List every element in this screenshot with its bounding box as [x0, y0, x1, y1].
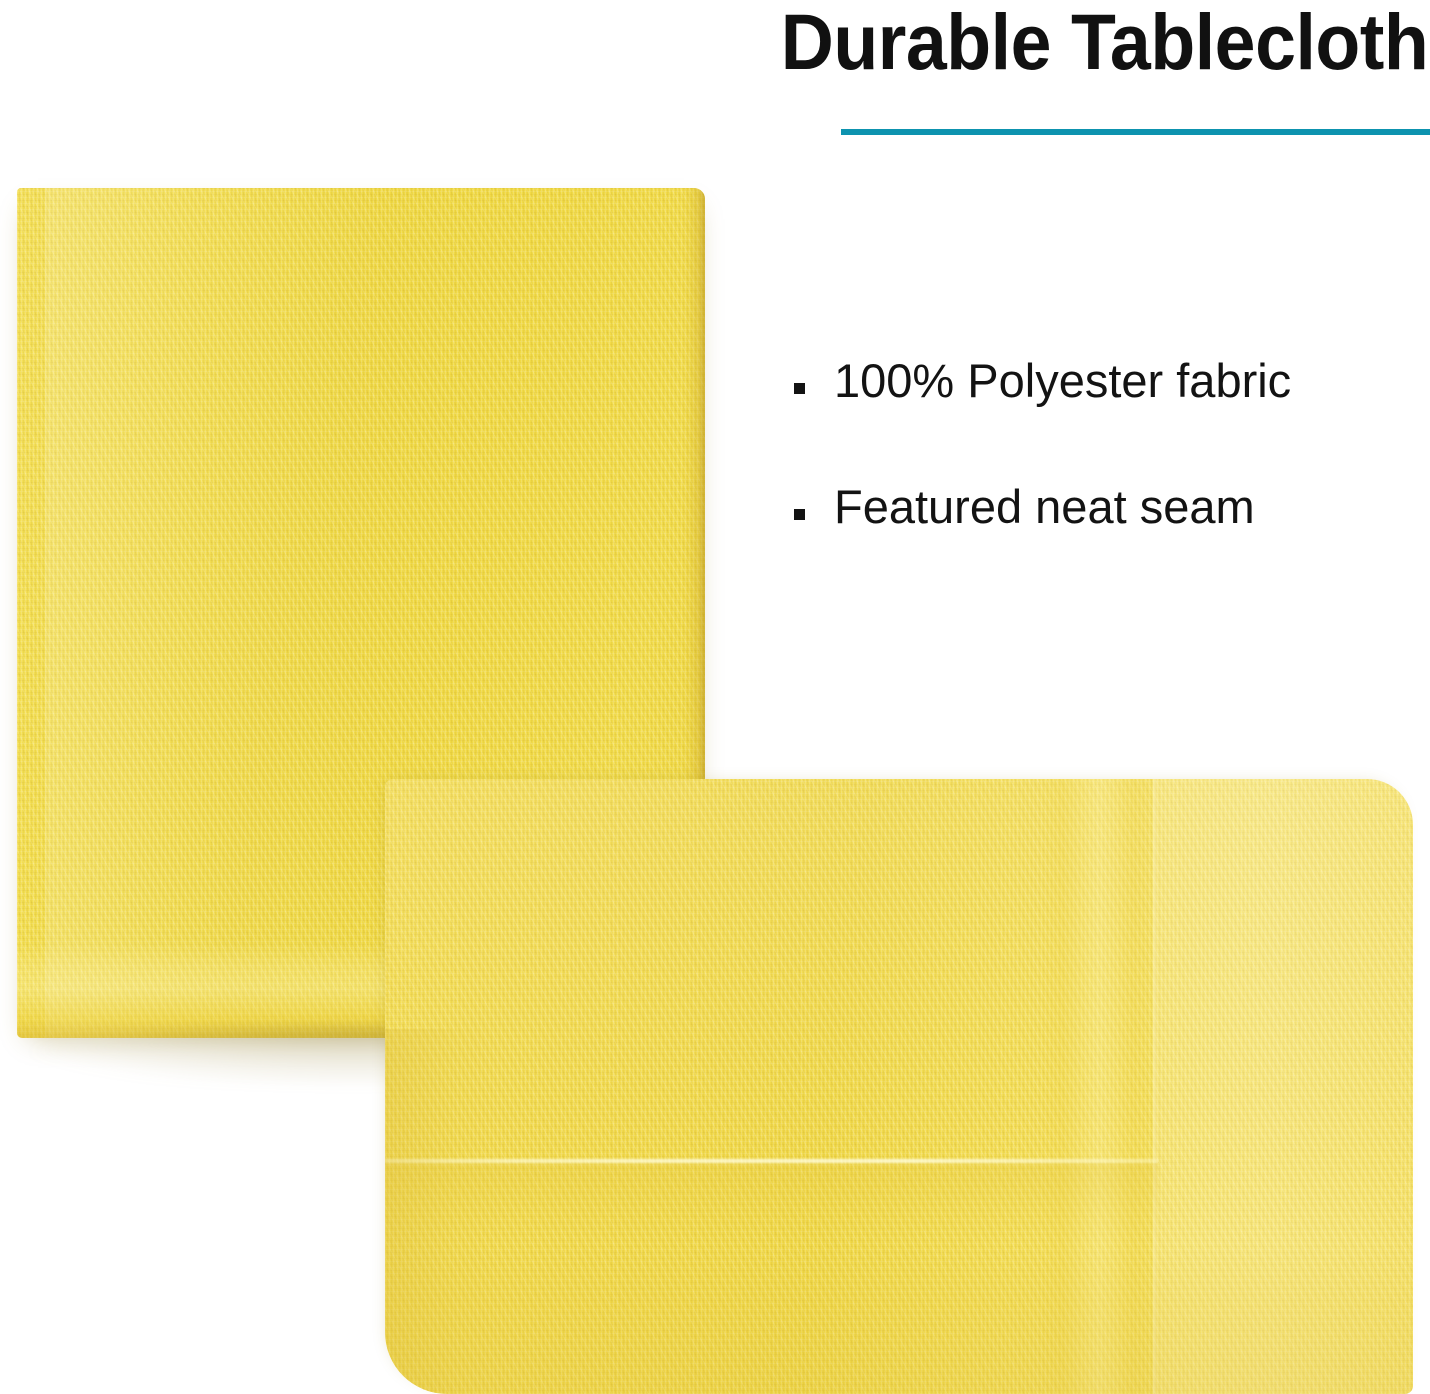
seam-detail-tablecloth-image: [385, 779, 1413, 1394]
list-item: 100% Polyester fabric: [788, 348, 1408, 414]
page-title: Durable Tablecloth: [780, 0, 1428, 90]
feature-label: 100% Polyester fabric: [834, 354, 1291, 407]
feature-list: 100% Polyester fabric Featured neat seam: [788, 348, 1408, 540]
feature-label: Featured neat seam: [834, 480, 1255, 533]
square-bullet-icon: [794, 509, 805, 520]
fabric-bottom-shading: [385, 1244, 1413, 1394]
title-underline-rule: [841, 129, 1430, 135]
list-item: Featured neat seam: [788, 474, 1408, 540]
fabric-sheen: [45, 188, 375, 1038]
header: Durable Tablecloth: [640, 0, 1430, 160]
product-infographic-canvas: Durable Tablecloth 100% Polyester fabric…: [0, 0, 1430, 1394]
square-bullet-icon: [794, 383, 805, 394]
